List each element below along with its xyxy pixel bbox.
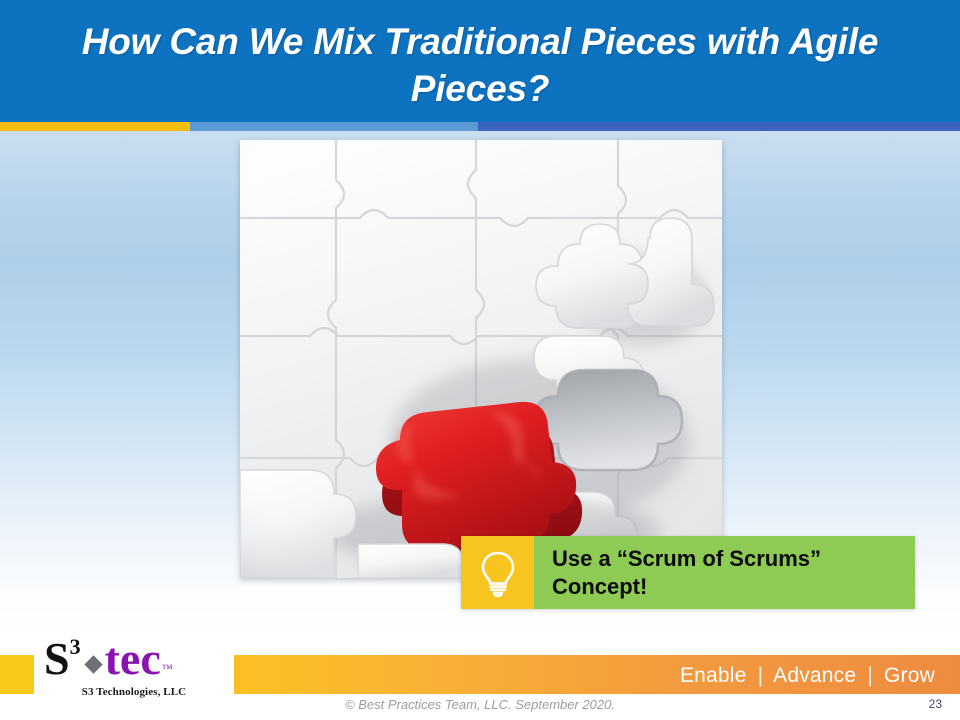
logo-letter-s: S	[44, 636, 70, 682]
puzzle-illustration	[240, 140, 722, 578]
diamond-icon	[84, 655, 102, 673]
accent-segment-light-blue	[190, 122, 478, 131]
logo-superscript: 3	[70, 634, 81, 660]
lightbulb-glyph	[478, 549, 518, 597]
accent-stripe	[0, 122, 960, 131]
puzzle-photo	[240, 140, 722, 578]
trademark-icon: ™	[162, 663, 173, 675]
callout-text: Use a “Scrum of Scrums” Concept!	[552, 545, 821, 601]
footer-tagline: Enable | Advance | Grow	[680, 664, 935, 688]
callout-box: Use a “Scrum of Scrums” Concept!	[461, 536, 915, 609]
tagline-enable: Enable	[680, 664, 747, 687]
accent-segment-dark-blue	[478, 122, 960, 131]
page-title: How Can We Mix Traditional Pieces with A…	[30, 18, 930, 112]
logo-word-tec: tec	[105, 636, 161, 682]
callout-line-2: Concept!	[552, 573, 821, 601]
accent-segment-gold	[0, 122, 190, 131]
tagline-separator-2: |	[862, 664, 878, 687]
tagline-grow: Grow	[884, 664, 935, 687]
slide: How Can We Mix Traditional Pieces with A…	[0, 0, 960, 720]
tagline-advance: Advance	[773, 664, 856, 687]
callout-body: Use a “Scrum of Scrums” Concept!	[534, 536, 915, 609]
page-number: 23	[929, 697, 942, 711]
company-logo: S 3 tec ™	[44, 636, 224, 688]
lightbulb-icon	[461, 536, 534, 609]
copyright-text: © Best Practices Team, LLC. September 20…	[0, 697, 960, 712]
title-band: How Can We Mix Traditional Pieces with A…	[0, 0, 960, 122]
callout-line-1: Use a “Scrum of Scrums”	[552, 545, 821, 573]
tagline-separator-1: |	[753, 664, 769, 687]
